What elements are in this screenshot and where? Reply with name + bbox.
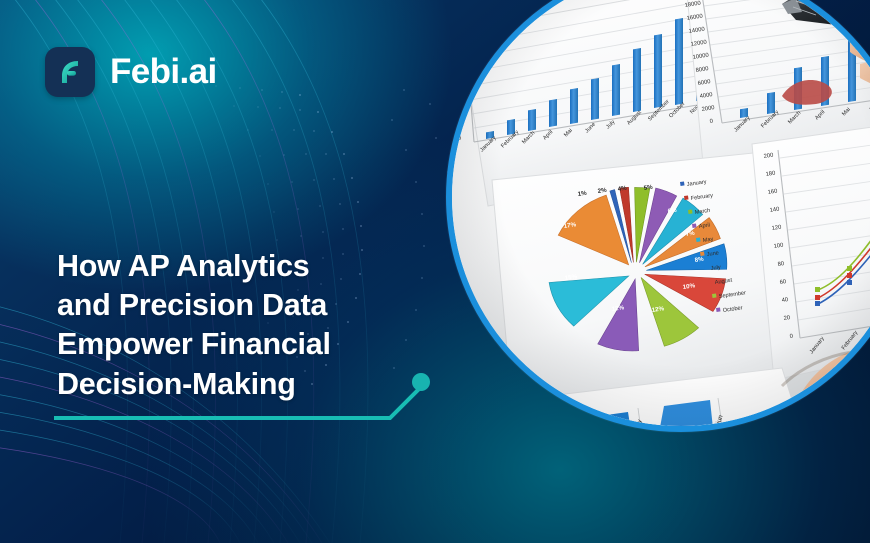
hero-banner: 0 50 — [0, 0, 870, 543]
headline-line-3: Empower Financial — [57, 325, 427, 364]
brand-wordmark: Febi.ai — [110, 52, 217, 92]
accent-dot-icon — [412, 373, 430, 391]
brand-logo[interactable]: Febi.ai — [45, 47, 217, 97]
headline-line-1: How AP Analytics — [57, 247, 427, 286]
hero-photo-circle: 0 50 — [446, 0, 870, 432]
febi-f-logo-icon — [45, 47, 95, 97]
f-glyph-icon — [55, 57, 85, 87]
hero-photo: 0 50 — [452, 0, 870, 426]
financial-charts-photo-svg: 0 50 — [452, 0, 870, 432]
accent-underline — [40, 360, 460, 430]
headline-line-2: and Precision Data — [57, 286, 427, 325]
